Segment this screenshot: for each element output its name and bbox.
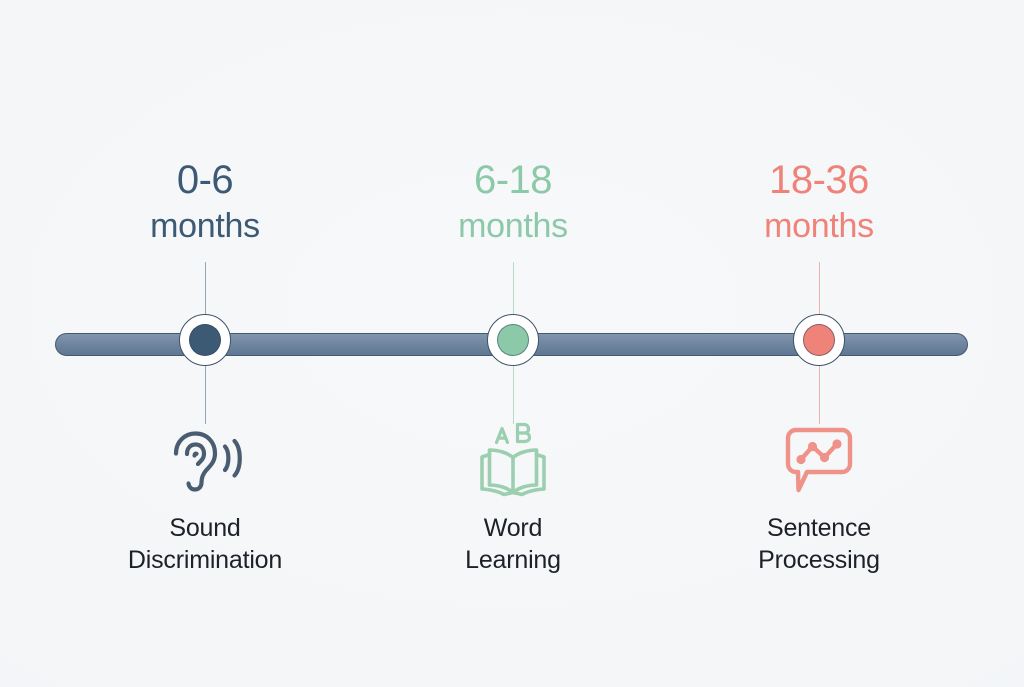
stage-caption: Sound Discrimination — [55, 512, 355, 576]
timeline-axis-bar — [55, 333, 968, 356]
stage-caption: Sentence Processing — [669, 512, 969, 576]
caption-line-1: Sound — [55, 512, 355, 544]
connector-line-lower — [819, 344, 820, 424]
caption-line-1: Word — [363, 512, 663, 544]
age-range: 0-6 — [55, 160, 355, 200]
connector-line-lower — [513, 344, 514, 424]
caption-line-2: Learning — [363, 544, 663, 576]
ear-listening-icon — [160, 424, 250, 496]
speech-bubble-network-icon — [774, 424, 864, 496]
age-label-group: 18-36 months — [669, 160, 969, 243]
caption-line-2: Processing — [669, 544, 969, 576]
age-label-group: 6-18 months — [363, 160, 663, 243]
stage-caption: Word Learning — [363, 512, 663, 576]
age-unit: months — [55, 209, 355, 243]
age-range: 18-36 — [669, 160, 969, 200]
open-book-abc-icon — [468, 424, 558, 496]
connector-line-lower — [205, 344, 206, 424]
caption-line-2: Discrimination — [55, 544, 355, 576]
age-unit: months — [669, 209, 969, 243]
age-range: 6-18 — [363, 160, 663, 200]
caption-line-1: Sentence — [669, 512, 969, 544]
age-unit: months — [363, 209, 663, 243]
timeline-infographic: 0-6 months Sound Discrimination 6-18 mo — [0, 0, 1024, 687]
age-label-group: 0-6 months — [55, 160, 355, 243]
